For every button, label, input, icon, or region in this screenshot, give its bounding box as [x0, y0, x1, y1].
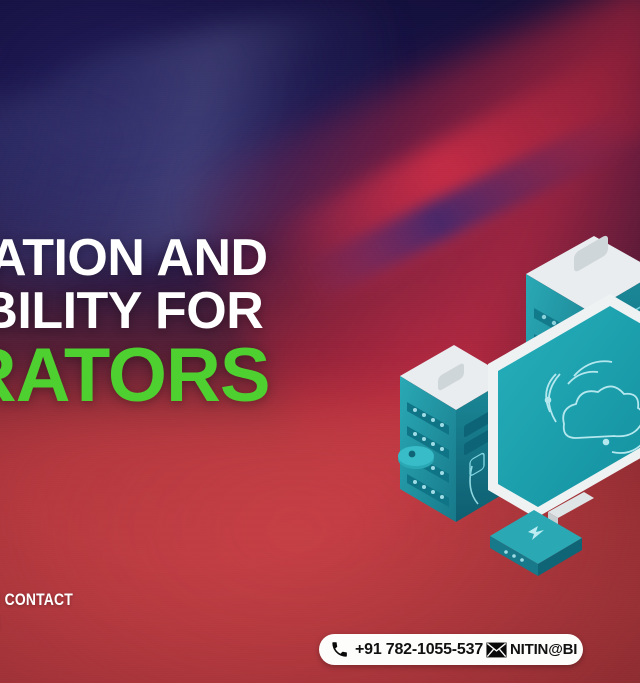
email-address[interactable]: NITIN@BI: [510, 641, 577, 658]
contact-caption: MMEDIATE CONTACT I QR CODE: [0, 589, 197, 635]
marketing-banner: GRATION AND LABILITY FOR ERATORS MMEDIAT…: [0, 0, 640, 683]
headline: GRATION AND LABILITY FOR ERATORS: [0, 236, 472, 409]
caption-line-1: MMEDIATE CONTACT: [0, 589, 197, 612]
headline-line-3-highlight: ERATORS: [0, 343, 472, 408]
contact-pill[interactable]: +91 782-1055-537 NITIN@BI: [319, 634, 583, 665]
headline-line-1: GRATION AND: [0, 236, 472, 281]
router-device: [490, 510, 582, 576]
headline-line-2: LABILITY FOR: [0, 289, 472, 334]
caption-line-2: I QR CODE: [0, 612, 197, 635]
phone-number[interactable]: +91 782-1055-537: [355, 641, 483, 659]
phone-handset-icon: [330, 640, 349, 659]
external-drive: [398, 446, 434, 469]
desktop-monitor: [488, 294, 640, 526]
envelope-icon: [486, 642, 507, 658]
